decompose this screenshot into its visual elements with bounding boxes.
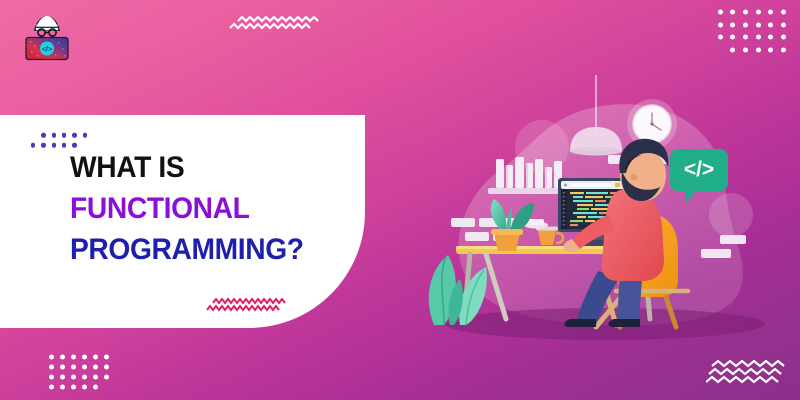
- developer-at-desk-illustration: </>: [420, 75, 800, 365]
- dot-grid-top-right: [714, 6, 790, 56]
- site-logo[interactable]: </>: [22, 12, 72, 64]
- page-title: WHAT IS FUNCTIONAL PROGRAMMING?: [70, 152, 400, 266]
- hero-banner: </>: [0, 0, 800, 400]
- illustration-svg: </>: [420, 75, 800, 365]
- headline-line-2: FUNCTIONAL: [70, 193, 380, 224]
- speech-bubble-text: </>: [684, 158, 714, 181]
- zigzag-top: [228, 16, 328, 32]
- toolbox-coder-logo-icon: </>: [22, 12, 72, 64]
- logo-badge-text: </>: [42, 47, 52, 54]
- headline-line-3: PROGRAMMING?: [70, 234, 380, 265]
- dot-grid-bottom-left: [46, 352, 112, 392]
- headline-line-1: WHAT IS: [70, 152, 380, 183]
- logo-head: [34, 16, 60, 36]
- blob-circle-3: [709, 193, 753, 237]
